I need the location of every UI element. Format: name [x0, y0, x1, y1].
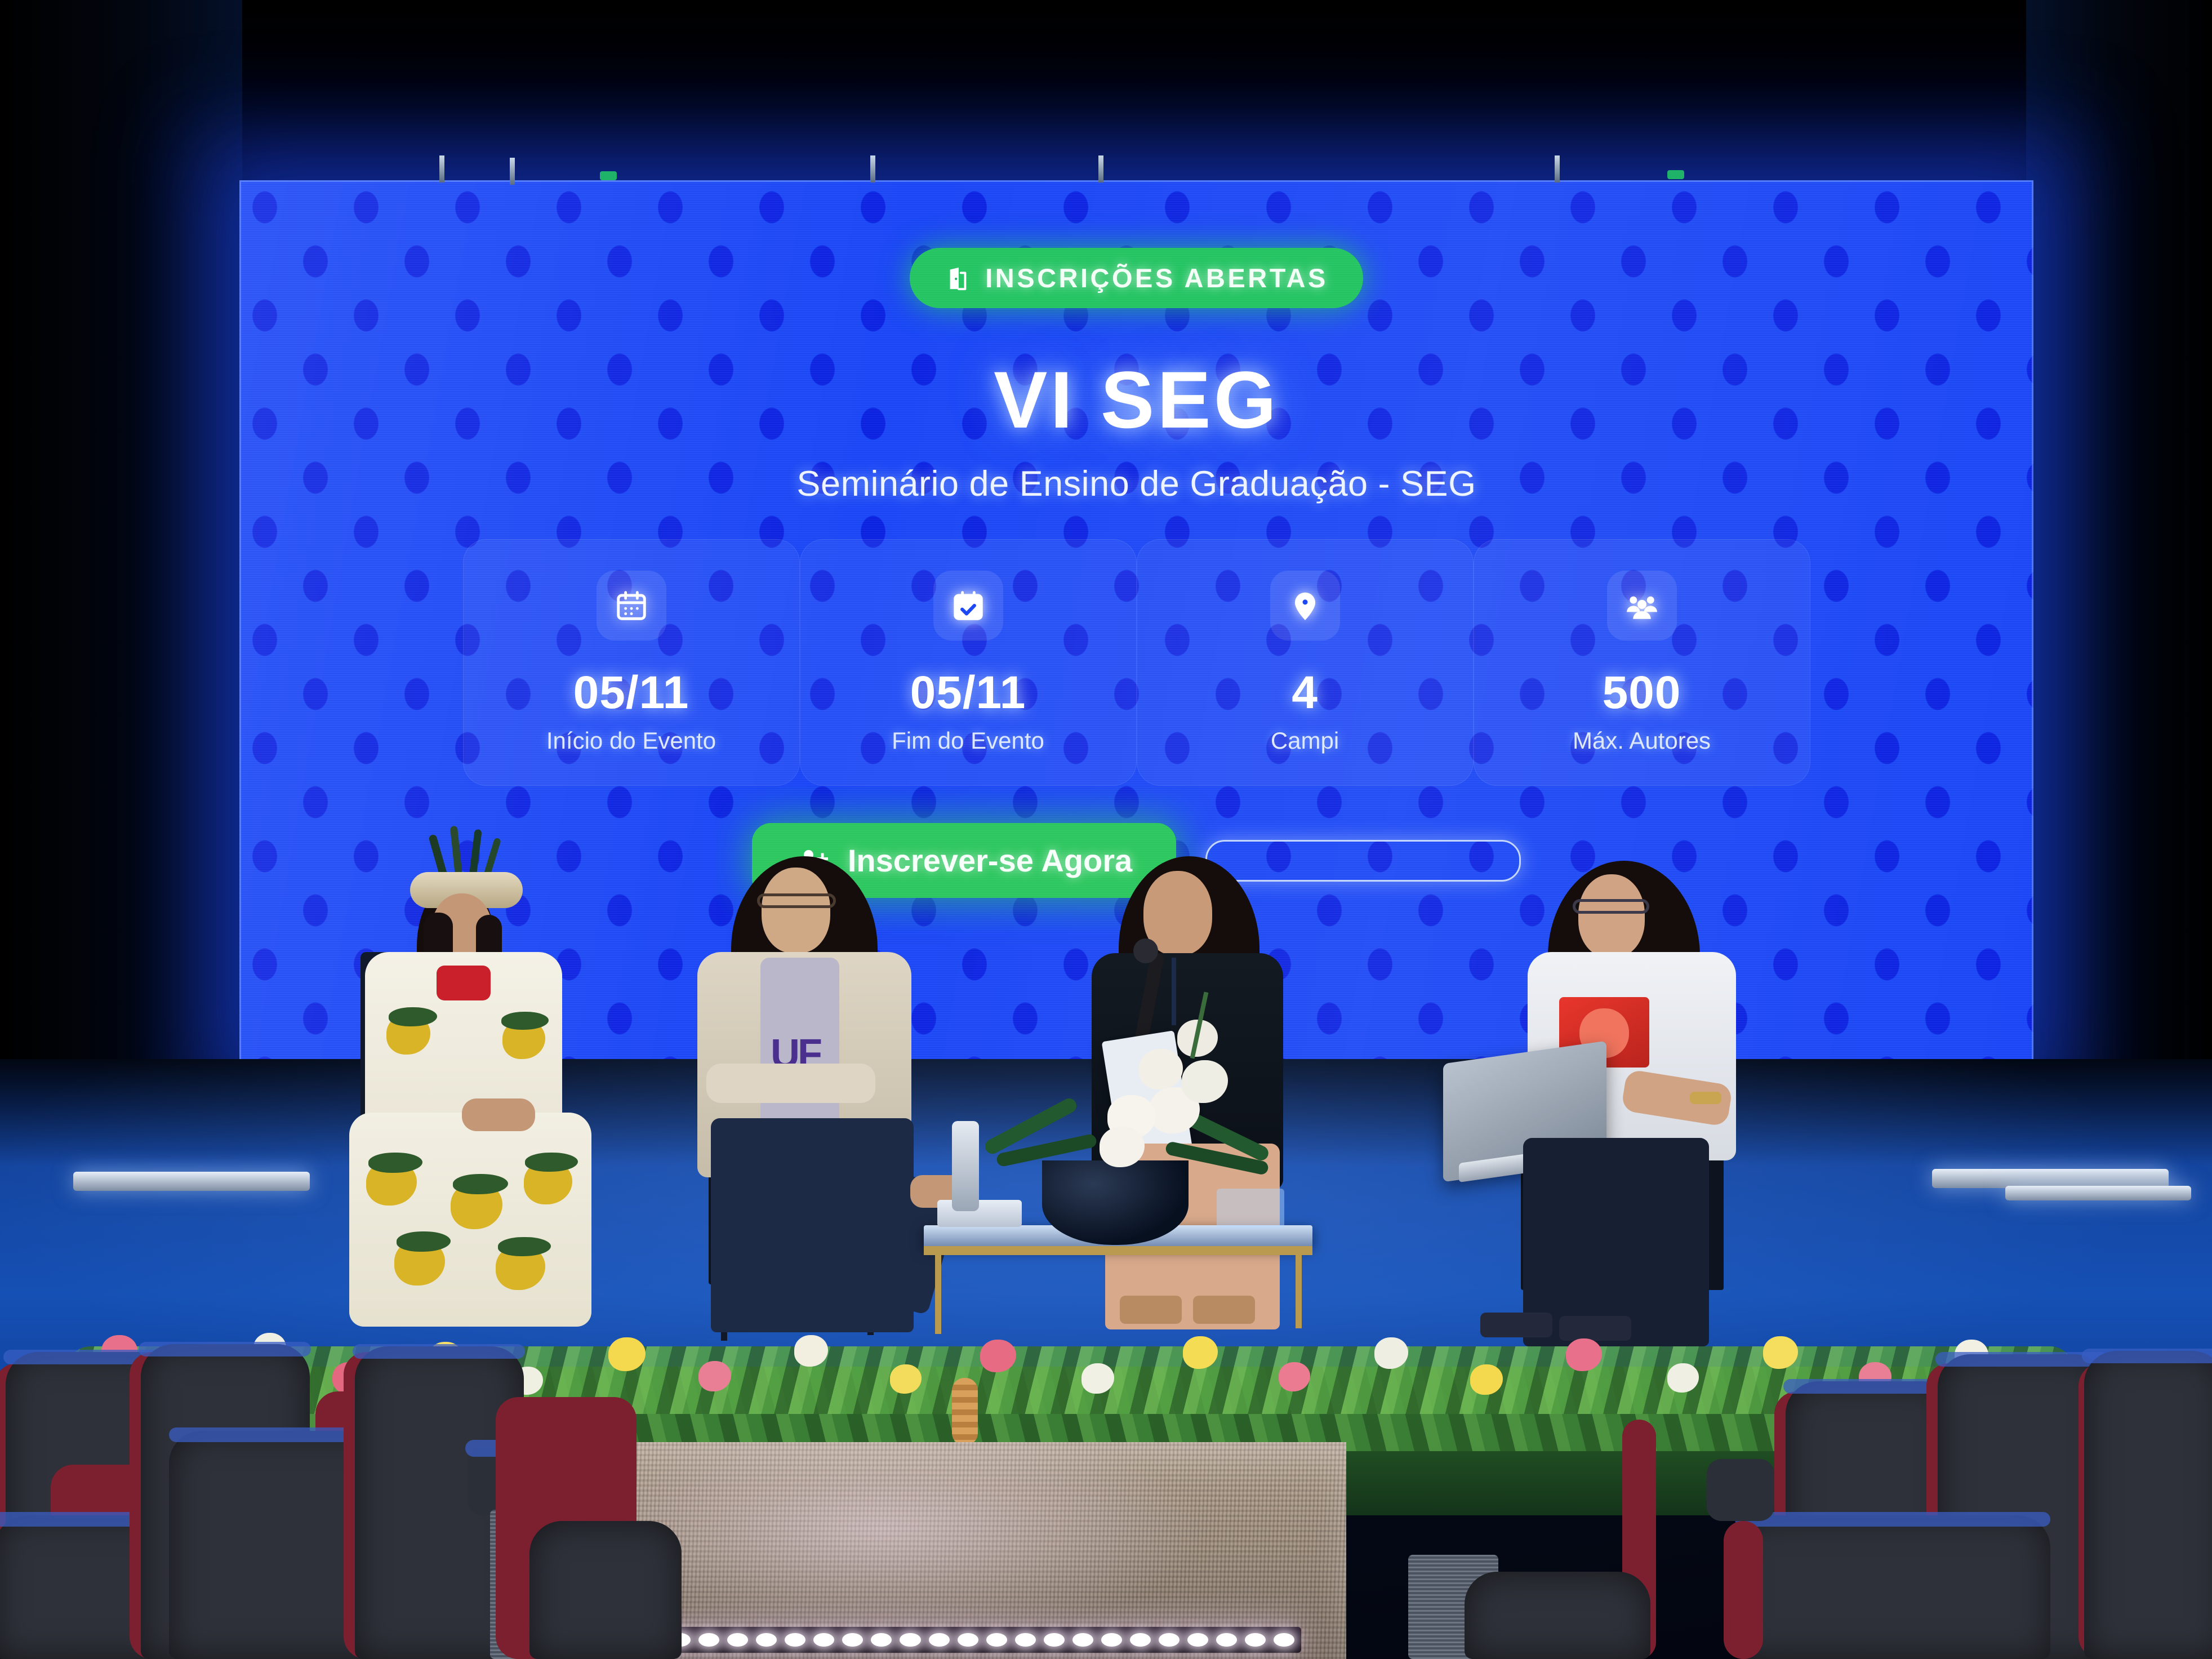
led-bulb [1274, 1633, 1294, 1647]
table-books [937, 1200, 1022, 1227]
eyeglasses-icon [1573, 899, 1649, 914]
floor-uplight [2005, 1186, 2191, 1200]
led-bulb [756, 1633, 777, 1647]
seat-rim [139, 1342, 311, 1356]
water-bottle-icon [952, 1121, 979, 1211]
led-bulb [929, 1633, 950, 1647]
rig-bolt-icon [1098, 155, 1103, 183]
led-bulb [813, 1633, 834, 1647]
rig-clamp-icon [600, 171, 617, 180]
eyeglasses-icon [757, 893, 836, 908]
led-bulb [1245, 1633, 1266, 1647]
ginger-flower [952, 1378, 978, 1445]
seat-rim [1735, 1512, 2050, 1527]
led-bulb [1101, 1633, 1122, 1647]
lanyard [1172, 958, 1176, 1025]
rig-bolt-icon [870, 155, 875, 183]
led-bulb [727, 1633, 748, 1647]
led-bulb [958, 1633, 978, 1647]
audience-seat[interactable] [1465, 1572, 1650, 1659]
ceiling-dark-area [0, 0, 2212, 186]
table-gold-edge [924, 1246, 1312, 1255]
led-bulb [842, 1633, 863, 1647]
dress-red-motif [437, 966, 491, 1000]
stage-front-led-strip [606, 1627, 1301, 1653]
led-bulb [1072, 1633, 1093, 1647]
seat-rim [2082, 1349, 2212, 1363]
audience-seat[interactable] [1735, 1515, 2050, 1659]
seat-armrest [1707, 1459, 1774, 1521]
led-bulb [871, 1633, 892, 1647]
rig-bolt-icon [439, 155, 444, 183]
seat-rim [353, 1344, 525, 1359]
rig-clamp-icon [1667, 170, 1684, 179]
led-bulb [1216, 1633, 1237, 1647]
led-bulb [1187, 1633, 1208, 1647]
led-bulb [900, 1633, 920, 1647]
microphone-head-icon [1133, 939, 1158, 963]
auditorium-room: INSCRIÇÕES ABERTAS VI SEG Seminário de E… [0, 0, 2212, 1659]
led-bulb [1130, 1633, 1151, 1647]
floor-uplight [1932, 1169, 2169, 1188]
audience-seat[interactable] [2084, 1351, 2212, 1659]
led-bulb [698, 1633, 719, 1647]
wristwatch [1690, 1092, 1721, 1104]
rig-bolt-icon [1555, 155, 1560, 183]
led-bulb [1015, 1633, 1036, 1647]
acrylic-sign [1217, 1189, 1284, 1228]
stage-drape-left [0, 0, 242, 1172]
audience-seat[interactable] [529, 1521, 682, 1659]
seat-side-panel [1724, 1521, 1763, 1659]
rig-bolt-icon [510, 158, 515, 185]
led-bulb [785, 1633, 805, 1647]
led-bulb [1044, 1633, 1065, 1647]
stage-drape-right [2026, 0, 2212, 1172]
led-bulb [986, 1633, 1007, 1647]
floor-uplight [73, 1172, 310, 1191]
led-bulb [1159, 1633, 1180, 1647]
